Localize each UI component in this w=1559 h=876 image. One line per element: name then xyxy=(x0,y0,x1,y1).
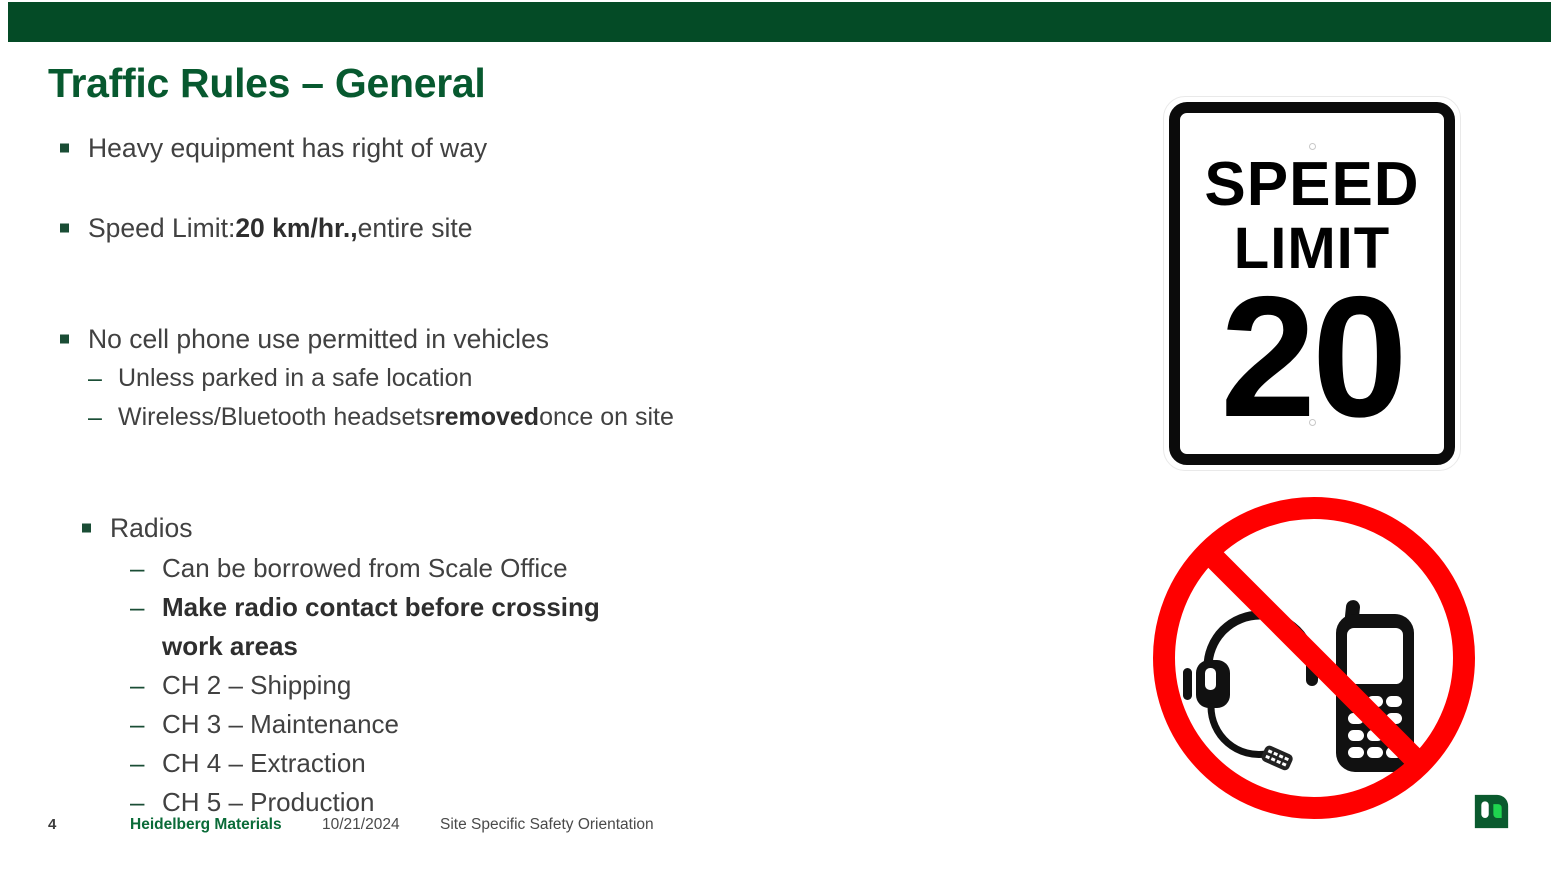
subbullet-ch5-production-label: CH 5 – Production xyxy=(162,789,374,815)
bullet-no-cell-phone: No cell phone use permitted in vehicles xyxy=(0,319,1120,359)
bullet-no-cell-phone-label: No cell phone use permitted in vehicles xyxy=(88,326,549,353)
subbullet-unless-parked-label: Unless parked in a safe location xyxy=(118,366,472,391)
subbullet-unless-parked: Unless parked in a safe location xyxy=(0,359,1120,398)
spacer xyxy=(0,288,1120,319)
sign-speed-value: 20 xyxy=(1180,271,1444,443)
footer-subject: Site Specific Safety Orientation xyxy=(440,816,654,838)
spacer xyxy=(0,248,1120,288)
headsets-prefix: Wireless/Bluetooth headsets xyxy=(118,405,435,430)
subbullet-ch2-shipping: CH 2 – Shipping xyxy=(0,665,1120,704)
subbullet-ch3-maintenance-label: CH 3 – Maintenance xyxy=(162,711,399,737)
sign-speed-label: SPEED xyxy=(1180,149,1444,220)
headsets-suffix: once on site xyxy=(539,405,674,430)
subbullet-ch4-extraction: CH 4 – Extraction xyxy=(0,743,1120,782)
subbullet-ch3-maintenance: CH 3 – Maintenance xyxy=(0,704,1120,743)
headset-earcup-outer xyxy=(1183,668,1192,700)
footer-date: 10/21/2024 xyxy=(322,816,400,838)
bullet-radios-label: Radios xyxy=(110,515,193,542)
subbullet-ch2-shipping-label: CH 2 – Shipping xyxy=(162,672,351,698)
footer-brand: Heidelberg Materials xyxy=(130,816,282,838)
speed-limit-sign-image: SPEED LIMIT 20 xyxy=(1163,96,1461,471)
headset-mic-arm xyxy=(1211,707,1266,755)
slide-body: Heavy equipment has right of way Speed L… xyxy=(0,128,1120,821)
subbullet-radio-contact-line2: work areas xyxy=(0,626,1120,665)
subbullet-radio-contact-label2: work areas xyxy=(162,633,298,659)
headset-microphone xyxy=(1260,744,1294,772)
heidelberg-materials-logo xyxy=(1473,793,1510,830)
bullet-heavy-equipment-label: Heavy equipment has right of way xyxy=(88,135,487,162)
speed-limit-sign-border: SPEED LIMIT 20 xyxy=(1169,102,1455,465)
footer-slide-number: 4 xyxy=(48,816,56,838)
bullet-speed-limit: Speed Limit: 20 km/hr., entire site xyxy=(0,208,1120,248)
headset-earcup-pad xyxy=(1205,668,1216,690)
subbullet-ch4-extraction-label: CH 4 – Extraction xyxy=(162,750,366,776)
bullet-heavy-equipment: Heavy equipment has right of way xyxy=(0,128,1120,168)
no-cell-phone-icon xyxy=(1148,492,1480,824)
speed-limit-suffix: entire site xyxy=(358,215,473,242)
headsets-removed-emphasis: removed xyxy=(435,405,539,430)
top-banner-bar xyxy=(8,2,1551,42)
subbullet-radio-contact-label: Make radio contact before crossing xyxy=(162,594,600,620)
speed-limit-value: 20 km/hr., xyxy=(235,215,357,242)
sign-rivet-bottom xyxy=(1309,419,1316,426)
page-title: Traffic Rules – General xyxy=(48,60,485,107)
spacer xyxy=(0,437,1120,477)
spacer xyxy=(0,168,1120,208)
subbullet-borrow-scale-office: Can be borrowed from Scale Office xyxy=(0,548,1120,587)
bullet-radios: Radios xyxy=(0,508,1120,548)
subbullet-headsets-removed: Wireless/Bluetooth headsets removed once… xyxy=(0,398,1120,437)
subbullet-borrow-scale-office-label: Can be borrowed from Scale Office xyxy=(162,555,568,581)
speed-limit-prefix: Speed Limit: xyxy=(88,215,235,242)
spacer xyxy=(0,477,1120,508)
subbullet-radio-contact: Make radio contact before crossing xyxy=(0,587,1120,626)
